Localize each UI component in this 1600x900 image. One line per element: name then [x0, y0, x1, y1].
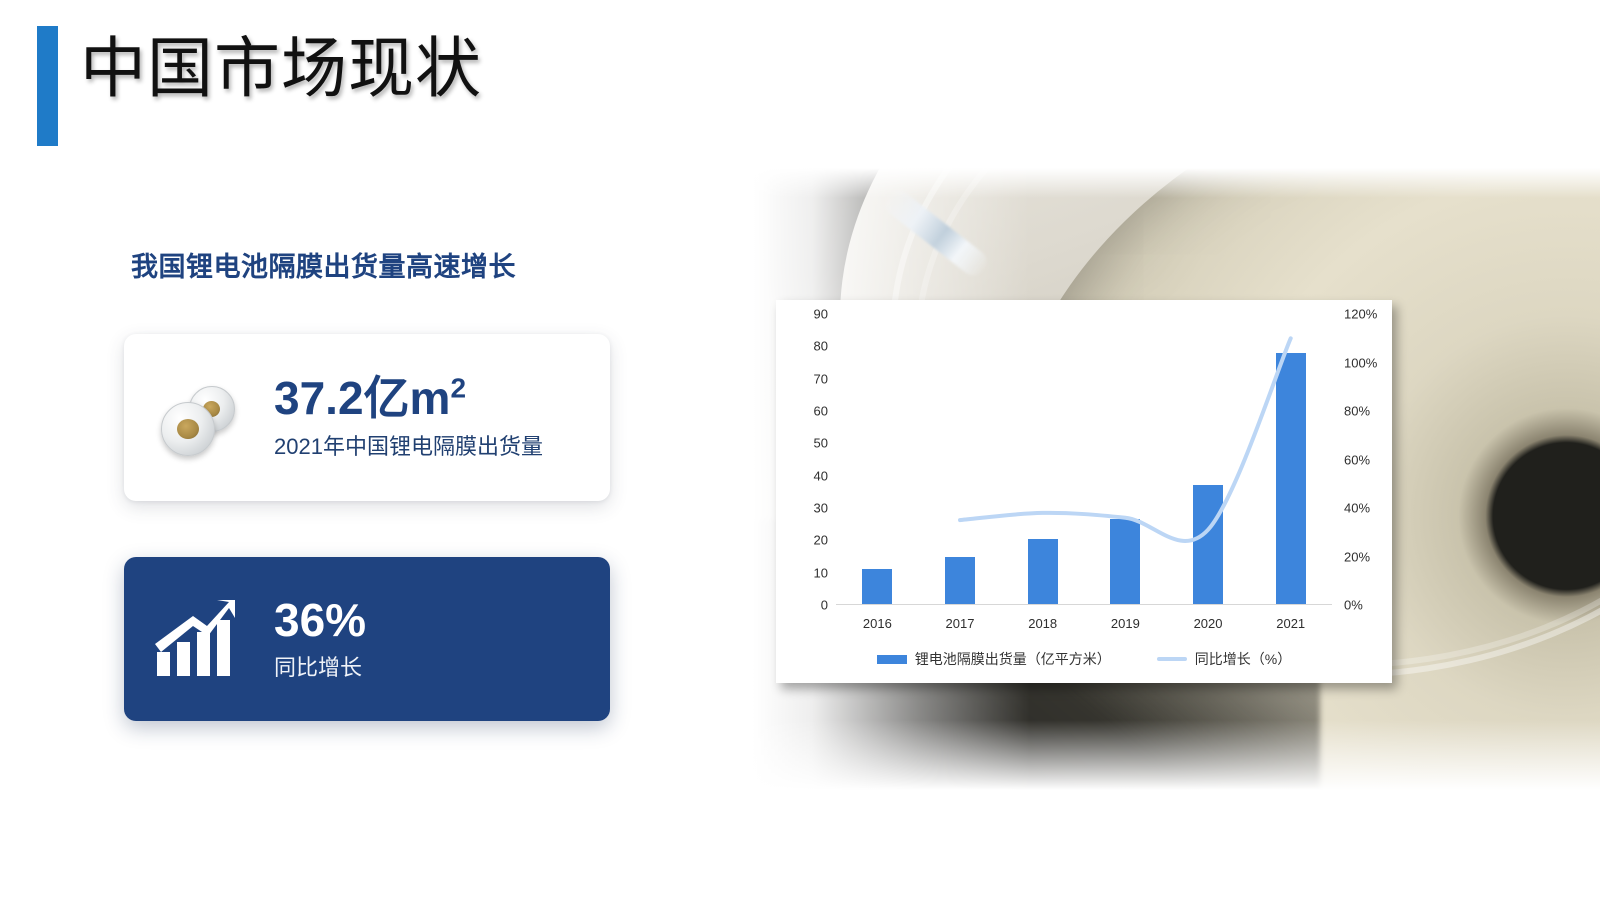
- chart-baseline: [836, 604, 1332, 605]
- chart-left-axis: 0102030405060708090: [776, 314, 834, 605]
- axis-tick: 100%: [1344, 355, 1377, 370]
- section-subtitle: 我国锂电池隔膜出货量高速增长: [131, 245, 516, 284]
- stat-label: 同比增长: [274, 650, 366, 682]
- title-accent-bar: [37, 26, 58, 146]
- chart-bar-slot: [1001, 314, 1084, 605]
- chart-bar[interactable]: [1028, 539, 1058, 605]
- chart-bar-slot: [1167, 314, 1250, 605]
- axis-tick: 40%: [1344, 501, 1370, 516]
- stat-value-superscript: 2: [450, 373, 466, 404]
- chart-x-label: 2021: [1249, 616, 1332, 631]
- axis-tick: 30: [814, 501, 828, 516]
- axis-tick: 50: [814, 436, 828, 451]
- axis-tick: 0%: [1344, 598, 1363, 613]
- chart-bar-slot: [919, 314, 1002, 605]
- axis-tick: 120%: [1344, 307, 1377, 322]
- growth-arrow-icon: [124, 557, 270, 721]
- chart-bar-slot: [1249, 314, 1332, 605]
- axis-tick: 20: [814, 533, 828, 548]
- legend-label: 同比增长（%）: [1195, 649, 1291, 669]
- legend-item-line[interactable]: 同比增长（%）: [1157, 649, 1291, 669]
- chart-bar-slot: [836, 314, 919, 605]
- chart-bar-slot: [1084, 314, 1167, 605]
- chart-x-label: 2020: [1167, 616, 1250, 631]
- chart-bar[interactable]: [1110, 519, 1140, 605]
- legend-line-swatch: [1157, 657, 1187, 661]
- stat-label: 2021年中国锂电隔膜出货量: [274, 429, 543, 461]
- chart-bar[interactable]: [945, 557, 975, 605]
- chart-bar[interactable]: [862, 569, 892, 605]
- legend-bar-swatch: [877, 655, 907, 664]
- stat-card-growth[interactable]: 36% 同比增长: [124, 557, 610, 721]
- chart-x-labels: 201620172018201920202021: [836, 616, 1332, 631]
- axis-tick: 10: [814, 565, 828, 580]
- slide-root: 中国市场现状 我国锂电池隔膜出货量高速增长 37.2亿m2 2021年中国锂电隔…: [0, 0, 1600, 900]
- chart-bar[interactable]: [1193, 485, 1223, 605]
- page-title: 中国市场现状: [80, 32, 482, 105]
- legend-item-bar[interactable]: 锂电池隔膜出货量（亿平方米）: [877, 649, 1111, 669]
- axis-tick: 60: [814, 404, 828, 419]
- film-roll-icon: [124, 334, 270, 501]
- stat-value: 36%: [274, 596, 366, 644]
- legend-label: 锂电池隔膜出货量（亿平方米）: [915, 649, 1111, 669]
- axis-tick: 40: [814, 468, 828, 483]
- chart-x-label: 2018: [1001, 616, 1084, 631]
- axis-tick: 70: [814, 371, 828, 386]
- chart-bar[interactable]: [1276, 353, 1306, 605]
- axis-tick: 60%: [1344, 452, 1370, 467]
- axis-tick: 80: [814, 339, 828, 354]
- axis-tick: 0: [821, 598, 828, 613]
- chart-bars: [836, 314, 1332, 605]
- chart-panel[interactable]: 0102030405060708090 0%20%40%60%80%100%12…: [776, 300, 1392, 683]
- axis-tick: 90: [814, 307, 828, 322]
- chart-legend: 锂电池隔膜出货量（亿平方米） 同比增长（%）: [776, 649, 1392, 669]
- stat-value: 37.2亿m2: [274, 374, 543, 422]
- axis-tick: 20%: [1344, 549, 1370, 564]
- chart-x-label: 2016: [836, 616, 919, 631]
- chart-x-label: 2019: [1084, 616, 1167, 631]
- chart-right-axis: 0%20%40%60%80%100%120%: [1334, 314, 1392, 605]
- chart-plot-area: [836, 314, 1332, 605]
- chart-x-label: 2017: [919, 616, 1002, 631]
- axis-tick: 80%: [1344, 404, 1370, 419]
- stat-card-shipment[interactable]: 37.2亿m2 2021年中国锂电隔膜出货量: [124, 334, 610, 501]
